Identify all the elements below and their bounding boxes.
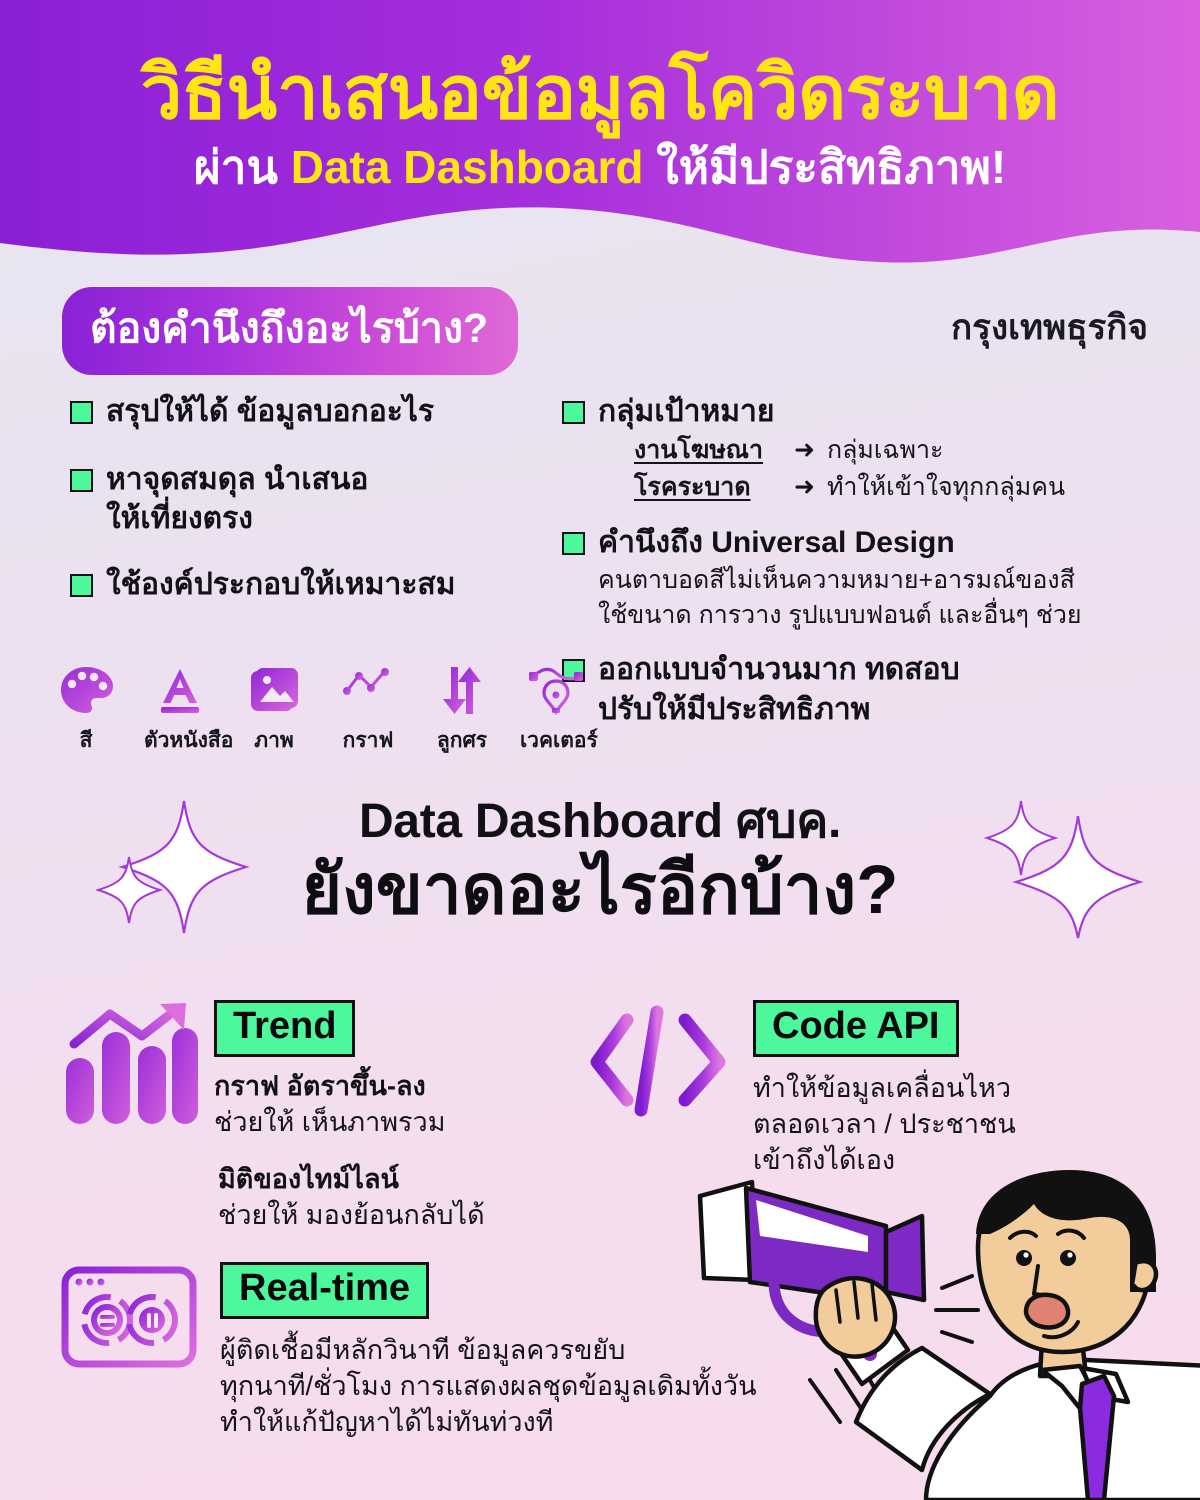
image-icon: [238, 662, 310, 720]
code-brackets-icon: [585, 1000, 745, 1178]
icon-caption: สี: [50, 724, 122, 757]
bullet-subtext-line-1: คนตาบอดสีไม่เห็นความหมาย+อารมณ์ของสี: [598, 564, 1082, 597]
trend-strong-text: กราฟ อัตราขึ้น-ลง: [214, 1069, 446, 1104]
arrow-right-icon: ➜: [794, 469, 815, 507]
target-group-mapping: งานโฆษณา ➜ กลุ่มเฉพาะ โรคระบาด ➜ ทำให้เข…: [634, 432, 1065, 507]
code-api-tag-label: Code API: [753, 1000, 959, 1057]
palette-icon: [50, 662, 122, 720]
green-square-bullet-icon: [70, 401, 93, 424]
timeline-strong-text: มิติของไทม์ไลน์: [218, 1162, 485, 1197]
icon-cell-color: สี: [50, 662, 122, 757]
icon-caption: ภาพ: [238, 724, 310, 757]
title-highlight: Data Dashboard: [291, 141, 644, 193]
list-item: หาจุดสมดุล นำเสนอ ให้เที่ยงตรง: [70, 460, 560, 539]
poster-title-line-2: ผ่าน Data Dashboard ให้มีประสิทธิภาพ!: [194, 139, 1007, 197]
arrow-right-icon: ➜: [794, 432, 815, 470]
vector-pen-icon: [520, 662, 592, 720]
icon-cell-typography: ตัวหนังสือ: [144, 662, 216, 757]
code-api-body-line-1: ทำให้ข้อมูลเคลื่อนไหว: [753, 1070, 1016, 1106]
chart-icon: [332, 662, 404, 720]
icon-caption: ลูกศร: [426, 724, 498, 757]
trend-body-text: ช่วยให้ เห็นภาพรวม: [214, 1104, 446, 1140]
real-time-tag-label: Real-time: [220, 1262, 429, 1319]
real-time-body-line-3: ทำให้แก้ปัญหาได้ไม่ทันท่วงที: [220, 1404, 757, 1440]
section-heading-pill: ต้องคำนึงถึงอะไรบ้าง?: [62, 287, 518, 375]
mapping-key: งานโฆษณา: [634, 432, 782, 470]
list-item: คำนึงถึง Universal Design คนตาบอดสีไม่เห…: [562, 523, 1162, 633]
list-item: ใช้องค์ประกอบให้เหมาะสม: [70, 565, 560, 605]
icon-cell-arrows: ลูกศร: [426, 662, 498, 757]
mapping-value: กลุ่มเฉพาะ: [827, 432, 943, 470]
considerations-right-column: กลุ่มเป้าหมาย งานโฆษณา ➜ กลุ่มเฉพาะ โรคร…: [562, 392, 1162, 757]
bullet-heading: หาจุดสมดุล นำเสนอ: [106, 460, 368, 500]
bullet-heading-line-2: ให้เที่ยงตรง: [106, 499, 368, 539]
section2-subtitle: Data Dashboard ศบค.: [0, 795, 1200, 849]
list-item: สรุปให้ได้ ข้อมูลบอกอะไร: [70, 392, 560, 432]
header-banner: วิธีนำเสนอข้อมูลโควิดระบาด ผ่าน Data Das…: [0, 0, 1200, 290]
icon-cell-image: ภาพ: [238, 662, 310, 757]
card-trend: Trend กราฟ อัตราขึ้น-ลง ช่วยให้ เห็นภาพร…: [60, 1000, 446, 1140]
man-with-megaphone-illustration: [690, 1170, 1200, 1500]
icon-caption: ตัวหนังสือ: [144, 724, 216, 757]
brand-logo-text: กรุงเทพธุรกิจ: [951, 300, 1148, 355]
icon-caption: กราฟ: [332, 724, 404, 757]
card-code-api: Code API ทำให้ข้อมูลเคลื่อนไหว ตลอดเวลา …: [585, 1000, 1016, 1178]
mapping-row: งานโฆษณา ➜ กลุ่มเฉพาะ: [634, 432, 1065, 470]
code-api-body-line-2: ตลอดเวลา / ประชาชน: [753, 1106, 1016, 1142]
title-pre: ผ่าน: [194, 141, 291, 193]
bullet-subtext-line-2: ใช้ขนาด การวาง รูปแบบฟอนต์ และอื่นๆ ช่วย: [598, 599, 1082, 632]
list-item: ออกแบบจำนวนมาก ทดสอบ ปรับให้มีประสิทธิภา…: [562, 650, 1162, 729]
considerations-left-column: สรุปให้ได้ ข้อมูลบอกอะไร หาจุดสมดุล นำเส…: [70, 392, 560, 632]
icon-cell-vector: เวคเตอร์: [520, 662, 592, 757]
list-item: กลุ่มเป้าหมาย งานโฆษณา ➜ กลุ่มเฉพาะ โรคร…: [562, 392, 1162, 507]
dashboard-gauges-icon: [55, 1262, 205, 1440]
timeline-block: มิติของไทม์ไลน์ ช่วยให้ มองย้อนกลับได้: [218, 1162, 485, 1233]
bullet-heading-line-2: ปรับให้มีประสิทธิภาพ: [598, 690, 960, 730]
arrows-icon: [426, 662, 498, 720]
mapping-value: ทำให้เข้าใจทุกกลุ่มคน: [827, 469, 1065, 507]
real-time-body-line-2: ทุกนาที/ชั่วโมง การแสดงผลชุดข้อมูลเดิมทั…: [220, 1368, 757, 1404]
green-square-bullet-icon: [70, 469, 93, 492]
bullet-heading: คำนึงถึง Universal Design: [598, 523, 1082, 563]
text-a-icon: [144, 662, 216, 720]
title-post: ให้มีประสิทธิภาพ!: [643, 141, 1006, 193]
green-square-bullet-icon: [562, 532, 585, 555]
icon-caption: เวคเตอร์: [520, 724, 592, 757]
bullet-heading: สรุปให้ได้ ข้อมูลบอกอะไร: [106, 392, 434, 432]
real-time-body-line-1: ผู้ติดเชื้อมีหลักวินาที ข้อมูลควรขยับ: [220, 1332, 757, 1368]
bullet-heading: ออกแบบจำนวนมาก ทดสอบ: [598, 650, 960, 690]
mapping-row: โรคระบาด ➜ ทำให้เข้าใจทุกกลุ่มคน: [634, 469, 1065, 507]
card-real-time: Real-time ผู้ติดเชื้อมีหลักวินาที ข้อมูล…: [55, 1262, 757, 1440]
green-square-bullet-icon: [70, 574, 93, 597]
section2-title-block: Data Dashboard ศบค. ยังขาดอะไรอีกบ้าง?: [0, 795, 1200, 928]
bullet-heading: กลุ่มเป้าหมาย: [598, 392, 1065, 432]
green-square-bullet-icon: [562, 401, 585, 424]
section2-title: ยังขาดอะไรอีกบ้าง?: [0, 851, 1200, 928]
timeline-body-text: ช่วยให้ มองย้อนกลับได้: [218, 1197, 485, 1233]
design-elements-icon-strip: สี ตัวหนังสือ: [28, 662, 592, 757]
icon-cell-chart: กราฟ: [332, 662, 404, 757]
bullet-heading: ใช้องค์ประกอบให้เหมาะสม: [106, 565, 456, 605]
poster-title-line-1: วิธีนำเสนอข้อมูลโควิดระบาด: [141, 53, 1059, 133]
mapping-key: โรคระบาด: [634, 469, 782, 507]
infographic-poster: วิธีนำเสนอข้อมูลโควิดระบาด ผ่าน Data Das…: [0, 0, 1200, 1500]
trend-tag-label: Trend: [214, 1000, 355, 1057]
bar-chart-trend-icon: [60, 1000, 200, 1140]
